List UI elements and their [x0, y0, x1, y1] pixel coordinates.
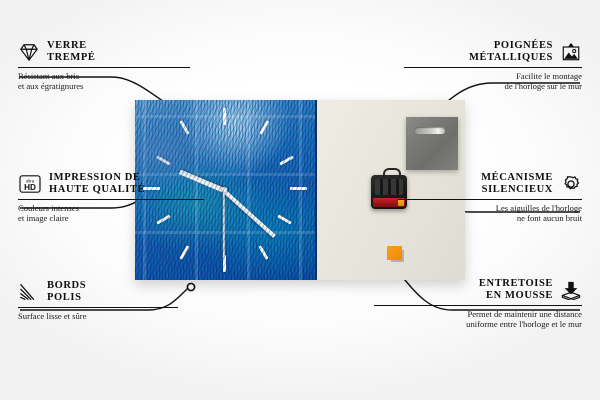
callout-title-line2: EN MOUSSE — [374, 290, 553, 302]
callout-subtitle-line1: Surface lisse et sûre — [18, 311, 178, 321]
callout-divider — [18, 67, 190, 68]
clock-center-pin — [222, 187, 227, 192]
callout-title-line1: MÉCANISME — [398, 172, 553, 184]
clock-second-hand — [223, 190, 225, 262]
callout-title-line1: BORDS — [47, 280, 86, 292]
callout-divider — [374, 305, 582, 306]
endpoint-dot-bords-polis — [187, 283, 194, 290]
callout-divider — [18, 307, 178, 308]
clock-minute-hand — [223, 190, 276, 238]
callout-bords-polis[interactable]: BORDS POLIS Surface lisse et sûre — [18, 280, 178, 321]
callout-title-line1: VERRE — [47, 40, 96, 52]
foam-spacer-icon — [560, 280, 582, 300]
callout-title-line2: SILENCIEUX — [398, 184, 553, 196]
callout-entretoise-en-mousse[interactable]: ENTRETOISE EN MOUSSE Permet de maintenir… — [374, 278, 582, 330]
callout-verre-trempe[interactable]: VERRE TREMPÉ Résistant aux bris et aux é… — [18, 40, 190, 92]
gear-icon — [560, 174, 582, 194]
foam-spacer — [387, 246, 402, 260]
clock-tick — [223, 255, 226, 272]
clock-tick — [179, 245, 189, 259]
callout-subtitle-line2: et image claire — [18, 213, 204, 223]
callout-title-line1: ENTRETOISE — [374, 278, 553, 290]
callout-subtitle-line2: de l'horloge sur le mur — [404, 81, 582, 91]
clock-tick — [290, 187, 307, 190]
callout-divider — [398, 199, 582, 200]
callout-subtitle-line2: et aux égratignures — [18, 81, 190, 91]
picture-hanger-icon — [560, 42, 582, 62]
callout-mecanisme-silencieux[interactable]: MÉCANISME SILENCIEUX Les aiguilles de l'… — [398, 172, 582, 224]
infographic-canvas: VERRE TREMPÉ Résistant aux bris et aux é… — [0, 0, 600, 400]
callout-title-line1: IMPRESSION DE — [49, 172, 145, 184]
svg-text:HD: HD — [24, 183, 36, 192]
callout-subtitle-line2: uniforme entre l'horloge et le mur — [374, 319, 582, 329]
clock-tick — [258, 245, 268, 259]
callout-subtitle-line2: ne font aucun bruit — [398, 213, 582, 223]
callout-divider — [404, 67, 582, 68]
callout-subtitle-line1: Couleurs intenses — [18, 203, 204, 213]
clock-tick — [156, 155, 170, 165]
callout-subtitle-line1: Résistant aux bris — [18, 71, 190, 81]
callout-title-line2: MÉTALLIQUES — [404, 52, 553, 64]
callout-divider — [18, 199, 204, 200]
callout-poignees-metalliques[interactable]: POIGNÉES MÉTALLIQUES Facilite le montage… — [404, 40, 582, 92]
diamond-icon — [18, 42, 40, 62]
callout-title-line2: TREMPÉ — [47, 52, 96, 64]
ultra-hd-icon: ultra HD — [18, 174, 42, 194]
callout-title-line2: HAUTE QUALITÉ — [49, 184, 145, 196]
hanger-keyhole-slot — [415, 127, 445, 134]
callout-title-line1: POIGNÉES — [404, 40, 553, 52]
callout-subtitle-line1: Les aiguilles de l'horloge — [398, 203, 582, 213]
callout-subtitle-line1: Permet de maintenir une distance — [374, 309, 582, 319]
clock-tick — [179, 120, 189, 134]
clock-tick — [223, 108, 226, 125]
callout-subtitle-line1: Facilite le montage — [404, 71, 582, 81]
polished-edges-icon — [18, 282, 40, 302]
clock-tick — [279, 155, 293, 165]
clock-tick — [259, 120, 269, 134]
metal-hanger-plate — [406, 117, 458, 170]
callout-impression-haute-qualite[interactable]: ultra HD IMPRESSION DE HAUTE QUALITÉ Cou… — [18, 172, 204, 224]
clock-tick — [277, 214, 291, 224]
callout-title-line2: POLIS — [47, 292, 86, 304]
